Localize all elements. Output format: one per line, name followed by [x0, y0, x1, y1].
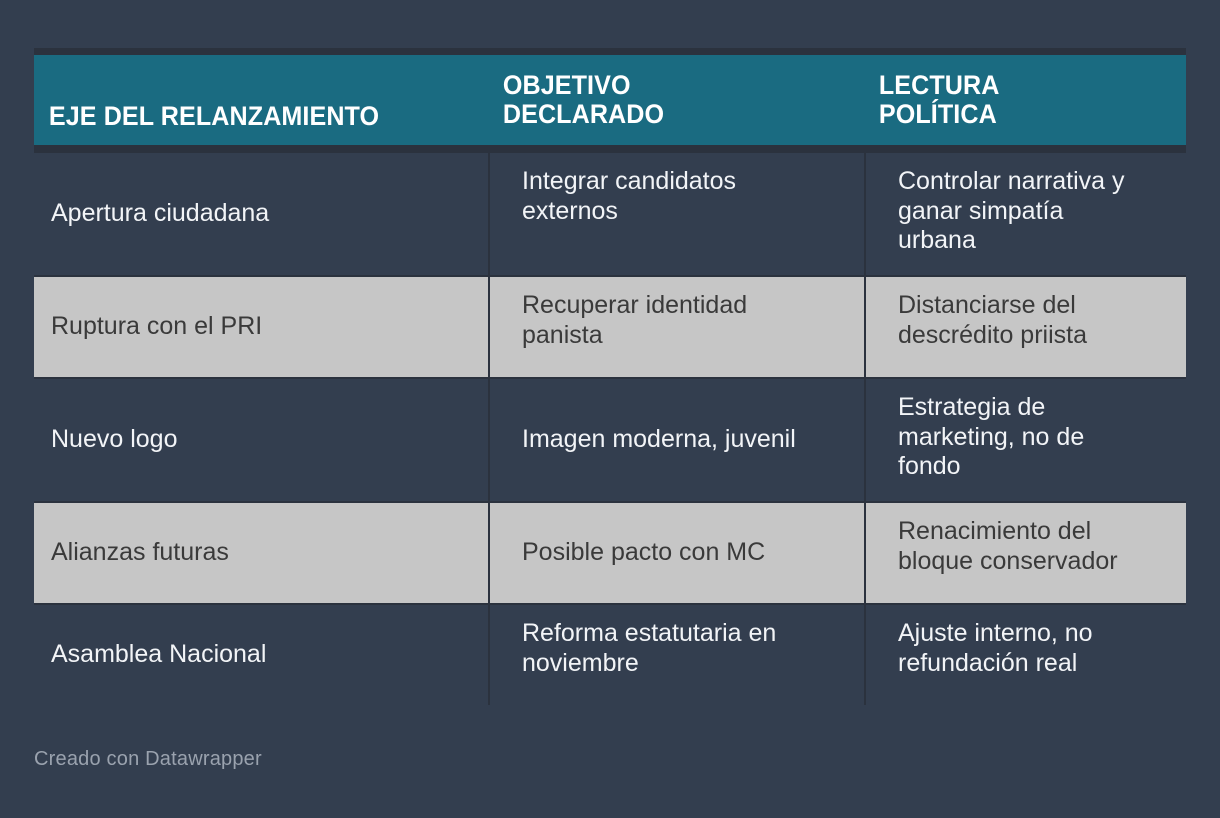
column-header-lectura: LECTURA POLÍTICA: [864, 55, 1163, 145]
table-page: EJE DEL RELANZAMIENTO OBJETIVO DECLARADO…: [0, 0, 1220, 818]
cell-line: Estrategia de: [898, 393, 1168, 423]
cell-line: Distanciarse del: [898, 291, 1168, 321]
cell-objetivo-text: Posible pacto con MC: [522, 538, 846, 568]
cell-line: Ajuste interno, no: [898, 619, 1168, 649]
cell-line: Posible pacto con MC: [522, 538, 846, 568]
table-header-row: EJE DEL RELANZAMIENTO OBJETIVO DECLARADO…: [34, 55, 1186, 145]
table-body: Apertura ciudadana Integrar candidatos e…: [34, 153, 1186, 705]
column-header-eje-line-1: EJE DEL RELANZAMIENTO: [49, 102, 443, 131]
cell-lectura-text: Estrategia de marketing, no de fondo: [898, 393, 1168, 482]
cell-eje: Apertura ciudadana: [34, 153, 488, 275]
cell-line: ganar simpatía: [898, 197, 1168, 227]
cell-eje-text: Asamblea Nacional: [51, 640, 470, 670]
table-row: Nuevo logo Imagen moderna, juvenil Estra…: [34, 379, 1186, 501]
cell-objetivo: Recuperar identidad panista: [488, 277, 864, 377]
cell-line: Asamblea Nacional: [51, 640, 470, 670]
cell-lectura: Controlar narrativa y ganar simpatía urb…: [864, 153, 1186, 275]
cell-line: Apertura ciudadana: [51, 199, 470, 229]
cell-line: Recuperar identidad: [522, 291, 846, 321]
cell-eje: Ruptura con el PRI: [34, 277, 488, 377]
data-table: EJE DEL RELANZAMIENTO OBJETIVO DECLARADO…: [34, 48, 1186, 705]
cell-objetivo: Posible pacto con MC: [488, 503, 864, 603]
table-row: Alianzas futuras Posible pacto con MC Re…: [34, 503, 1186, 603]
cell-objetivo-text: Imagen moderna, juvenil: [522, 425, 846, 455]
cell-objetivo: Integrar candidatos externos: [488, 153, 864, 275]
cell-line: Reforma estatutaria en: [522, 619, 846, 649]
cell-lectura: Distanciarse del descrédito priista: [864, 277, 1186, 377]
cell-eje-text: Nuevo logo: [51, 425, 470, 455]
table-row: Apertura ciudadana Integrar candidatos e…: [34, 153, 1186, 275]
column-header-objetivo-line-1: OBJETIVO: [503, 71, 825, 100]
cell-lectura: Estrategia de marketing, no de fondo: [864, 379, 1186, 501]
cell-eje: Alianzas futuras: [34, 503, 488, 603]
cell-objetivo: Reforma estatutaria en noviembre: [488, 605, 864, 705]
cell-eje-text: Apertura ciudadana: [51, 199, 470, 229]
cell-eje-text: Alianzas futuras: [51, 538, 470, 568]
datawrapper-credit[interactable]: Creado con Datawrapper: [34, 748, 262, 771]
cell-objetivo-text: Reforma estatutaria en noviembre: [522, 619, 846, 678]
cell-line: Controlar narrativa y: [898, 167, 1168, 197]
cell-line: Ruptura con el PRI: [51, 312, 470, 342]
cell-line: urbana: [898, 226, 1168, 256]
column-header-lectura-line-2: POLÍTICA: [879, 100, 1151, 129]
cell-line: Renacimiento del: [898, 517, 1168, 547]
table-top-rule: [34, 48, 1186, 55]
cell-line: refundación real: [898, 649, 1168, 679]
cell-lectura-text: Ajuste interno, no refundación real: [898, 619, 1168, 678]
cell-objetivo-text: Recuperar identidad panista: [522, 291, 846, 350]
cell-line: descrédito priista: [898, 321, 1168, 351]
cell-line: noviembre: [522, 649, 846, 679]
cell-objetivo: Imagen moderna, juvenil: [488, 379, 864, 501]
table-row: Asamblea Nacional Reforma estatutaria en…: [34, 605, 1186, 705]
cell-line: Alianzas futuras: [51, 538, 470, 568]
column-header-eje: EJE DEL RELANZAMIENTO: [34, 55, 456, 145]
table-header-rule: [34, 145, 1186, 153]
cell-line: panista: [522, 321, 846, 351]
column-header-objetivo-line-2: DECLARADO: [503, 100, 825, 129]
cell-objetivo-text: Integrar candidatos externos: [522, 167, 846, 226]
cell-line: Integrar candidatos: [522, 167, 846, 197]
cell-line: externos: [522, 197, 846, 227]
cell-eje: Asamblea Nacional: [34, 605, 488, 705]
column-header-lectura-line-1: LECTURA: [879, 71, 1151, 100]
cell-lectura-text: Controlar narrativa y ganar simpatía urb…: [898, 167, 1168, 256]
cell-line: marketing, no de: [898, 423, 1168, 453]
cell-lectura: Renacimiento del bloque conservador: [864, 503, 1186, 603]
table-row: Ruptura con el PRI Recuperar identidad p…: [34, 277, 1186, 377]
cell-line: Nuevo logo: [51, 425, 470, 455]
cell-lectura-text: Renacimiento del bloque conservador: [898, 517, 1168, 576]
cell-eje: Nuevo logo: [34, 379, 488, 501]
column-header-objetivo: OBJETIVO DECLARADO: [488, 55, 838, 145]
cell-lectura-text: Distanciarse del descrédito priista: [898, 291, 1168, 350]
cell-line: fondo: [898, 452, 1168, 482]
cell-line: Imagen moderna, juvenil: [522, 425, 846, 455]
cell-lectura: Ajuste interno, no refundación real: [864, 605, 1186, 705]
cell-line: bloque conservador: [898, 547, 1168, 577]
cell-eje-text: Ruptura con el PRI: [51, 312, 470, 342]
